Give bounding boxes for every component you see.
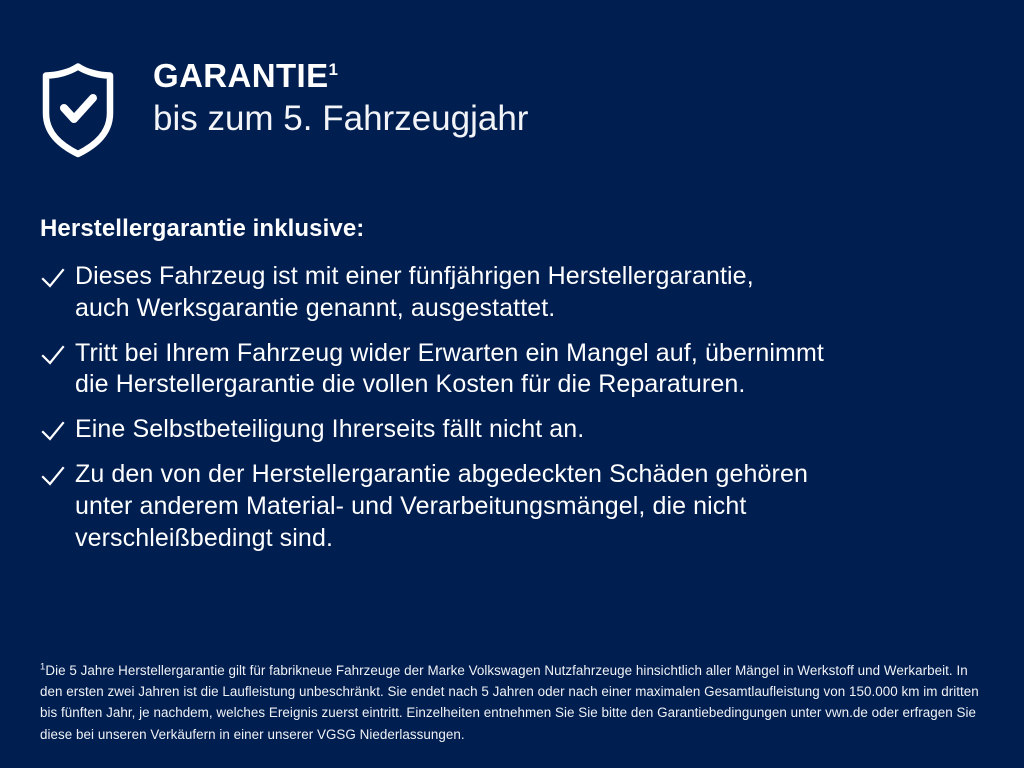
list-item: Dieses Fahrzeug ist mit einer fünfjährig… (40, 261, 970, 325)
list-item: Tritt bei Ihrem Fahrzeug wider Erwarten … (40, 338, 970, 402)
check-icon (40, 339, 66, 370)
check-icon (40, 460, 66, 491)
title-footnote-marker: 1 (329, 60, 339, 79)
check-icon (40, 262, 66, 293)
footnote-text: Die 5 Jahre Herstellergarantie gilt für … (40, 663, 979, 742)
list-item-label: Dieses Fahrzeug ist mit einer fünfjährig… (75, 261, 754, 325)
footnote: 1Die 5 Jahre Herstellergarantie gilt für… (40, 660, 990, 745)
page-title: GARANTIE1 (153, 59, 528, 94)
header-text: GARANTIE1 bis zum 5. Fahrzeugjahr (153, 57, 528, 138)
header: GARANTIE1 bis zum 5. Fahrzeugjahr (40, 57, 528, 159)
check-icon (40, 415, 66, 446)
benefit-list: Dieses Fahrzeug ist mit einer fünfjährig… (40, 261, 970, 554)
list-item-label: Zu den von der Herstellergarantie abgede… (75, 459, 808, 554)
warranty-slide: GARANTIE1 bis zum 5. Fahrzeugjahr Herste… (0, 0, 1024, 768)
page-subtitle: bis zum 5. Fahrzeugjahr (153, 99, 528, 138)
list-item: Eine Selbstbeteiligung Ihrerseits fällt … (40, 414, 970, 446)
shield-check-icon (40, 61, 116, 159)
list-item-label: Eine Selbstbeteiligung Ihrerseits fällt … (75, 414, 584, 446)
page-title-text: GARANTIE (153, 57, 329, 94)
list-item-label: Tritt bei Ihrem Fahrzeug wider Erwarten … (75, 338, 824, 402)
main-content: Herstellergarantie inklusive: Dieses Fah… (40, 213, 970, 554)
list-item: Zu den von der Herstellergarantie abgede… (40, 459, 970, 554)
intro-heading: Herstellergarantie inklusive: (40, 213, 970, 244)
